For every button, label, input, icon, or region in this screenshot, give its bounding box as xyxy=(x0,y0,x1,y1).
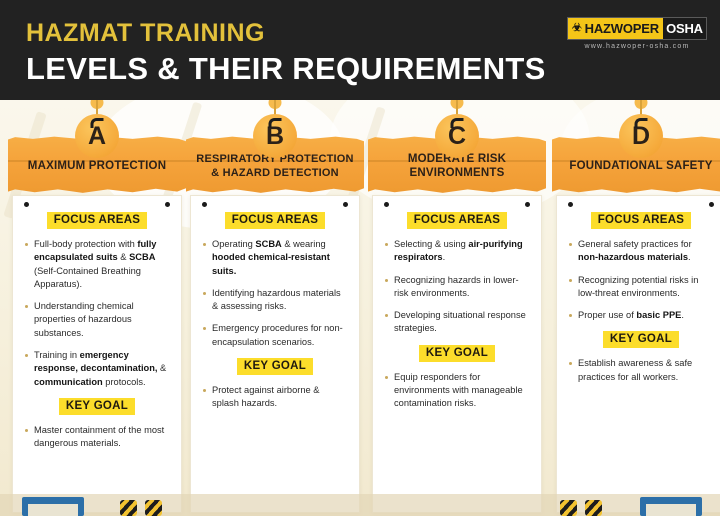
hook-icon xyxy=(91,118,104,128)
page-header: HAZMAT TRAINING LEVELS & THEIR REQUIREME… xyxy=(0,0,720,100)
bottom-photo-strip xyxy=(0,492,720,516)
focus-areas-list: Full-body protection with fully encapsul… xyxy=(24,238,170,389)
focus-areas-label: FOCUS AREAS xyxy=(225,212,326,229)
key-goal-label: KEY GOAL xyxy=(419,345,495,362)
level-card-b: FOCUS AREAS Operating SCBA & wearing hoo… xyxy=(190,195,360,513)
focus-area-item: Full-body protection with fully encapsul… xyxy=(24,238,170,291)
focus-area-item: Selecting & using air-purifying respirat… xyxy=(384,238,530,265)
biohazard-icon: ☣ xyxy=(572,23,582,34)
logo-left-block: ☣ HAZWOPER xyxy=(568,18,663,39)
level-card-d: FOCUS AREAS General safety practices for… xyxy=(556,195,720,513)
pushpin-icon xyxy=(525,202,530,207)
brand-logo[interactable]: ☣ HAZWOPER OSHA www.hazwoper-osha.com xyxy=(567,17,707,50)
logo-name-hazwoper: HAZWOPER xyxy=(585,21,659,36)
level-card-a: FOCUS AREAS Full-body protection with fu… xyxy=(12,195,182,513)
equipment-crate xyxy=(22,497,84,516)
key-goal-list: Equip responders for environments with m… xyxy=(384,371,530,411)
key-goal-item: Protect against airborne & splash hazard… xyxy=(202,384,348,411)
key-goal-list: Master containment of the most dangerous… xyxy=(24,424,170,451)
key-goal-list: Establish awareness & safe practices for… xyxy=(568,357,714,384)
key-goal-item: Establish awareness & safe practices for… xyxy=(568,357,714,384)
focus-areas-list: Operating SCBA & wearing hooded chemical… xyxy=(202,238,348,349)
hazard-tape-icon xyxy=(120,500,137,516)
focus-area-item: Recognizing potential risks in low-threa… xyxy=(568,274,714,301)
hazard-tape-icon xyxy=(560,500,577,516)
pushpin-icon xyxy=(709,202,714,207)
header-title-block: HAZMAT TRAINING LEVELS & THEIR REQUIREME… xyxy=(26,18,546,88)
focus-area-item: Understanding chemical properties of haz… xyxy=(24,300,170,340)
key-goal-item: Equip responders for environments with m… xyxy=(384,371,530,411)
hook-icon xyxy=(269,118,282,128)
hazard-tape-icon xyxy=(585,500,602,516)
focus-area-item: Operating SCBA & wearing hooded chemical… xyxy=(202,238,348,278)
focus-area-item: Proper use of basic PPE. xyxy=(568,309,714,322)
focus-area-item: General safety practices for non-hazardo… xyxy=(568,238,714,265)
focus-areas-label: FOCUS AREAS xyxy=(591,212,692,229)
logo-name-osha: OSHA xyxy=(663,18,706,39)
focus-area-item: Recognizing hazards in lower-risk enviro… xyxy=(384,274,530,301)
level-column-b[interactable]: B RESPIRATORY PROTECTION & HAZARD DETECT… xyxy=(186,100,364,516)
level-title: FOUNDATIONAL SAFETY xyxy=(569,159,712,174)
focus-areas-list: Selecting & using air-purifying respirat… xyxy=(384,238,530,336)
level-column-c[interactable]: C MODERATE RISK ENVIRONMENTS FOCUS AREAS… xyxy=(368,100,546,516)
hook-icon xyxy=(451,118,464,128)
key-goal-label: KEY GOAL xyxy=(237,358,313,375)
key-goal-item: Master containment of the most dangerous… xyxy=(24,424,170,451)
focus-areas-label: FOCUS AREAS xyxy=(47,212,148,229)
level-column-d[interactable]: D FOUNDATIONAL SAFETY FOCUS AREAS Genera… xyxy=(552,100,720,516)
level-card-c: FOCUS AREAS Selecting & using air-purify… xyxy=(372,195,542,513)
focus-area-item: Emergency procedures for non-encapsulati… xyxy=(202,322,348,349)
level-column-a[interactable]: A MAXIMUM PROTECTION FOCUS AREAS Full-bo… xyxy=(8,100,186,516)
logo-bar: ☣ HAZWOPER OSHA xyxy=(567,17,707,40)
hazard-tape-icon xyxy=(145,500,162,516)
pushpin-icon xyxy=(384,202,389,207)
pushpin-icon xyxy=(24,202,29,207)
level-title: MAXIMUM PROTECTION xyxy=(28,159,166,174)
key-goal-label: KEY GOAL xyxy=(603,331,679,348)
focus-area-item: Identifying hazardous materials & assess… xyxy=(202,287,348,314)
pushpin-icon xyxy=(343,202,348,207)
logo-website-url: www.hazwoper-osha.com xyxy=(567,43,707,50)
key-goal-label: KEY GOAL xyxy=(59,398,135,415)
page-title: LEVELS & THEIR REQUIREMENTS xyxy=(26,50,546,88)
page-title-eyebrow: HAZMAT TRAINING xyxy=(26,18,546,48)
key-goal-list: Protect against airborne & splash hazard… xyxy=(202,384,348,411)
equipment-crate xyxy=(640,497,702,516)
focus-areas-list: General safety practices for non-hazardo… xyxy=(568,238,714,322)
focus-area-item: Training in emergency response, decontam… xyxy=(24,349,170,389)
pushpin-icon xyxy=(202,202,207,207)
focus-area-item: Developing situational response strategi… xyxy=(384,309,530,336)
hook-icon xyxy=(635,118,648,128)
pushpin-icon xyxy=(165,202,170,207)
focus-areas-label: FOCUS AREAS xyxy=(407,212,508,229)
pushpin-icon xyxy=(568,202,573,207)
infographic-body: A MAXIMUM PROTECTION FOCUS AREAS Full-bo… xyxy=(0,100,720,516)
